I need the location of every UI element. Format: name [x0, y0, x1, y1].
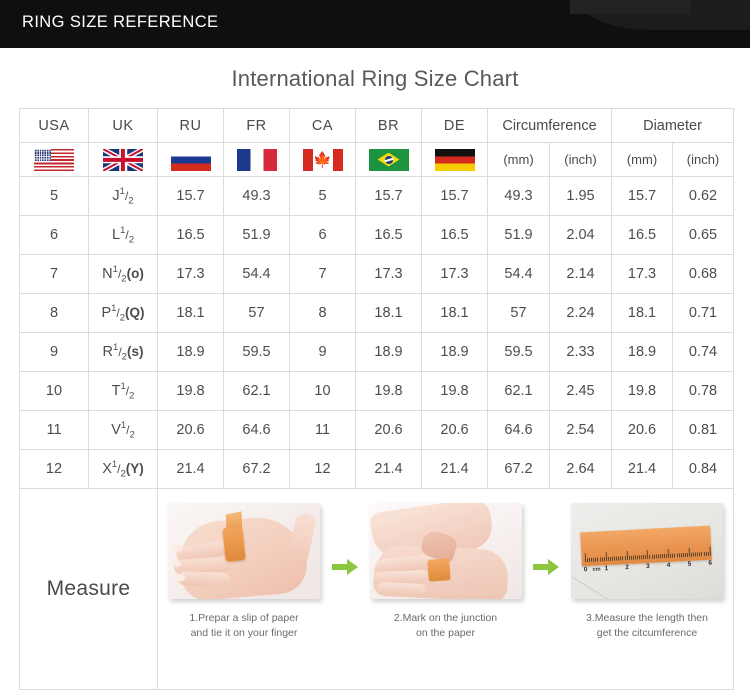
hand-with-paper-strip-photo	[168, 503, 320, 599]
table-row: 10T1/219.862.11019.819.862.12.4519.80.78	[20, 372, 734, 411]
header-usa: USA	[20, 109, 89, 143]
header-fr: FR	[224, 109, 290, 143]
uk-letter: L	[112, 226, 120, 242]
cell-ru: 18.9	[158, 333, 224, 372]
cell-ca: 5	[290, 177, 356, 216]
header-ru: RU	[158, 109, 224, 143]
cell-uk: N1/2(o)	[89, 255, 158, 294]
step-caption-line1: 2.Mark on the junction	[363, 611, 528, 626]
cell-usa: 7	[20, 255, 89, 294]
uk-denominator: 2	[129, 390, 134, 401]
page-title: International Ring Size Chart	[0, 66, 750, 92]
cell-circumference-inch: 2.33	[550, 333, 612, 372]
cell-usa: 6	[20, 216, 89, 255]
header-de: DE	[422, 109, 488, 143]
uk-suffix: (Q)	[125, 304, 145, 319]
cell-circumference-inch: 2.45	[550, 372, 612, 411]
ruler-tick-label: 0	[584, 566, 588, 573]
table-row: 9R1/2(s)18.959.5918.918.959.52.3318.90.7…	[20, 333, 734, 372]
table-foot: Measure 1.Prepar a slip of paperand tie …	[20, 489, 734, 690]
cell-circumference-inch: 2.54	[550, 411, 612, 450]
flag-russia-icon	[158, 143, 224, 177]
cell-diameter-mm: 16.5	[612, 216, 673, 255]
cell-fr: 67.2	[224, 450, 290, 489]
cell-circumference-mm: 64.6	[488, 411, 550, 450]
marking-paper-junction-photo	[370, 503, 522, 599]
cell-usa: 8	[20, 294, 89, 333]
table-head: USA UK RU FR CA BR DE Circumference Diam…	[20, 109, 734, 177]
cell-circumference-mm: 54.4	[488, 255, 550, 294]
uk-suffix: (o)	[127, 265, 144, 280]
ring-size-table: USA UK RU FR CA BR DE Circumference Diam…	[19, 108, 734, 690]
cell-br: 18.9	[356, 333, 422, 372]
measure-row: Measure 1.Prepar a slip of paperand tie …	[20, 489, 734, 690]
uk-letter: X	[102, 460, 112, 476]
arrow-right-icon	[532, 467, 561, 667]
ruler-tick-label: 4	[667, 562, 671, 569]
cell-diameter-inch: 0.68	[673, 255, 734, 294]
cell-fr: 49.3	[224, 177, 290, 216]
uk-denominator: 2	[130, 429, 135, 440]
header-ca: CA	[290, 109, 356, 143]
cell-br: 20.6	[356, 411, 422, 450]
cell-diameter-inch: 0.74	[673, 333, 734, 372]
ruler-measuring-strip-photo: 0123456cm	[571, 503, 723, 599]
cell-fr: 64.6	[224, 411, 290, 450]
ruler-tick-label: 1	[604, 565, 608, 572]
top-banner: RING SIZE REFERENCE	[0, 0, 750, 48]
measure-label: Measure	[20, 489, 158, 690]
step-caption-line1: 1.Prepar a slip of paper	[162, 611, 327, 626]
cell-ru: 19.8	[158, 372, 224, 411]
header-flag-row: 🍁 (mm) (inch) (mm) (inch)	[20, 143, 734, 177]
cell-circumference-mm: 59.5	[488, 333, 550, 372]
cell-uk: R1/2(s)	[89, 333, 158, 372]
uk-suffix: (s)	[127, 343, 144, 358]
uk-letter: N	[102, 265, 112, 281]
cell-diameter-mm: 17.3	[612, 255, 673, 294]
step-caption-line2: on the paper	[363, 626, 528, 641]
header-circumference-mm: (mm)	[488, 143, 550, 177]
cell-fr: 62.1	[224, 372, 290, 411]
cell-uk: P1/2(Q)	[89, 294, 158, 333]
cell-circumference-mm: 57	[488, 294, 550, 333]
cell-usa: 5	[20, 177, 89, 216]
uk-denominator: 2	[128, 195, 133, 206]
cell-ru: 16.5	[158, 216, 224, 255]
flag-brazil-icon	[356, 143, 422, 177]
cell-ca: 7	[290, 255, 356, 294]
step-caption-line2: get the citcumference	[565, 626, 730, 641]
cell-br: 16.5	[356, 216, 422, 255]
cell-br: 21.4	[356, 450, 422, 489]
header-br: BR	[356, 109, 422, 143]
cell-br: 15.7	[356, 177, 422, 216]
header-diameter-inch: (inch)	[673, 143, 734, 177]
cell-fr: 59.5	[224, 333, 290, 372]
cell-de: 16.5	[422, 216, 488, 255]
cell-de: 20.6	[422, 411, 488, 450]
header-diameter: Diameter	[612, 109, 734, 143]
arrow-right-icon	[330, 467, 359, 667]
cell-fr: 54.4	[224, 255, 290, 294]
cell-ru: 20.6	[158, 411, 224, 450]
cell-circumference-mm: 51.9	[488, 216, 550, 255]
cell-diameter-mm: 18.1	[612, 294, 673, 333]
uk-letter: V	[111, 421, 121, 437]
cell-usa: 10	[20, 372, 89, 411]
cell-ca: 9	[290, 333, 356, 372]
banner-corner-shade-2	[570, 0, 690, 14]
cell-ca: 11	[290, 411, 356, 450]
cell-circumference-inch: 2.04	[550, 216, 612, 255]
flag-usa-icon	[20, 143, 89, 177]
uk-letter: P	[101, 304, 111, 320]
cell-diameter-inch: 0.84	[673, 450, 734, 489]
cell-ru: 18.1	[158, 294, 224, 333]
cell-br: 18.1	[356, 294, 422, 333]
flag-canada-icon: 🍁	[290, 143, 356, 177]
cell-diameter-inch: 0.65	[673, 216, 734, 255]
cell-diameter-mm: 20.6	[612, 411, 673, 450]
cell-de: 18.1	[422, 294, 488, 333]
step-caption: 3.Measure the length thenget the citcumf…	[565, 611, 730, 641]
header-country-row: USA UK RU FR CA BR DE Circumference Diam…	[20, 109, 734, 143]
ruler-tick-label: 6	[708, 560, 712, 567]
cell-br: 19.8	[356, 372, 422, 411]
flag-france-icon	[224, 143, 290, 177]
header-circumference: Circumference	[488, 109, 612, 143]
step-caption: 2.Mark on the junctionon the paper	[363, 611, 528, 641]
table-row: 7N1/2(o)17.354.4717.317.354.42.1417.30.6…	[20, 255, 734, 294]
cell-fr: 57	[224, 294, 290, 333]
cell-ca: 8	[290, 294, 356, 333]
uk-letter: R	[103, 343, 113, 359]
step-caption: 1.Prepar a slip of paperand tie it on yo…	[162, 611, 327, 641]
cell-diameter-inch: 0.62	[673, 177, 734, 216]
uk-denominator: 2	[129, 234, 134, 245]
cell-usa: 11	[20, 411, 89, 450]
table-row: 5J1/215.749.3515.715.749.31.9515.70.62	[20, 177, 734, 216]
flag-uk-icon	[89, 143, 158, 177]
cell-diameter-inch: 0.78	[673, 372, 734, 411]
ruler-tick-label: 3	[646, 563, 650, 570]
cell-diameter-mm: 18.9	[612, 333, 673, 372]
cell-de: 15.7	[422, 177, 488, 216]
cell-uk: L1/2	[89, 216, 158, 255]
measure-step: 1.Prepar a slip of paperand tie it on yo…	[158, 503, 330, 641]
cell-ru: 17.3	[158, 255, 224, 294]
table-row: 12X1/2(Y)21.467.21221.421.467.22.6421.40…	[20, 450, 734, 489]
cell-circumference-mm: 62.1	[488, 372, 550, 411]
cell-circumference-inch: 1.95	[550, 177, 612, 216]
cell-uk: V1/2	[89, 411, 158, 450]
uk-letter: J	[112, 187, 119, 203]
cell-diameter-mm: 21.4	[612, 450, 673, 489]
cell-diameter-mm: 15.7	[612, 177, 673, 216]
table-row: 11V1/220.664.61120.620.664.62.5420.60.81	[20, 411, 734, 450]
header-circumference-inch: (inch)	[550, 143, 612, 177]
cell-circumference-inch: 2.24	[550, 294, 612, 333]
cell-circumference-mm: 49.3	[488, 177, 550, 216]
cell-de: 21.4	[422, 450, 488, 489]
cell-uk: X1/2(Y)	[89, 450, 158, 489]
header-uk: UK	[89, 109, 158, 143]
flag-germany-icon	[422, 143, 488, 177]
step-caption-line1: 3.Measure the length then	[565, 611, 730, 626]
cell-ca: 10	[290, 372, 356, 411]
cell-ca: 6	[290, 216, 356, 255]
banner-title: RING SIZE REFERENCE	[22, 13, 218, 32]
uk-suffix: (Y)	[126, 460, 144, 475]
cell-de: 18.9	[422, 333, 488, 372]
table-row: 8P1/2(Q)18.157818.118.1572.2418.10.71	[20, 294, 734, 333]
step-caption-line2: and tie it on your finger	[162, 626, 327, 641]
cell-br: 17.3	[356, 255, 422, 294]
cell-fr: 51.9	[224, 216, 290, 255]
cell-ru: 21.4	[158, 450, 224, 489]
cell-diameter-inch: 0.71	[673, 294, 734, 333]
cell-uk: J1/2	[89, 177, 158, 216]
cell-de: 17.3	[422, 255, 488, 294]
ruler-tick-label: 2	[625, 564, 629, 571]
ruler-unit-label: cm	[592, 566, 600, 572]
cell-diameter-mm: 19.8	[612, 372, 673, 411]
cell-ru: 15.7	[158, 177, 224, 216]
table-row: 6L1/216.551.9616.516.551.92.0416.50.65	[20, 216, 734, 255]
ruler-tick-label: 5	[687, 561, 691, 568]
cell-uk: T1/2	[89, 372, 158, 411]
header-diameter-mm: (mm)	[612, 143, 673, 177]
measure-step: 2.Mark on the junctionon the paper	[360, 503, 532, 641]
measure-step: 0123456cm3.Measure the length thenget th…	[561, 503, 733, 641]
cell-usa: 12	[20, 450, 89, 489]
cell-circumference-inch: 2.14	[550, 255, 612, 294]
cell-usa: 9	[20, 333, 89, 372]
table-body: 5J1/215.749.3515.715.749.31.9515.70.626L…	[20, 177, 734, 489]
measure-steps-cell: 1.Prepar a slip of paperand tie it on yo…	[158, 489, 734, 690]
cell-de: 19.8	[422, 372, 488, 411]
cell-diameter-inch: 0.81	[673, 411, 734, 450]
